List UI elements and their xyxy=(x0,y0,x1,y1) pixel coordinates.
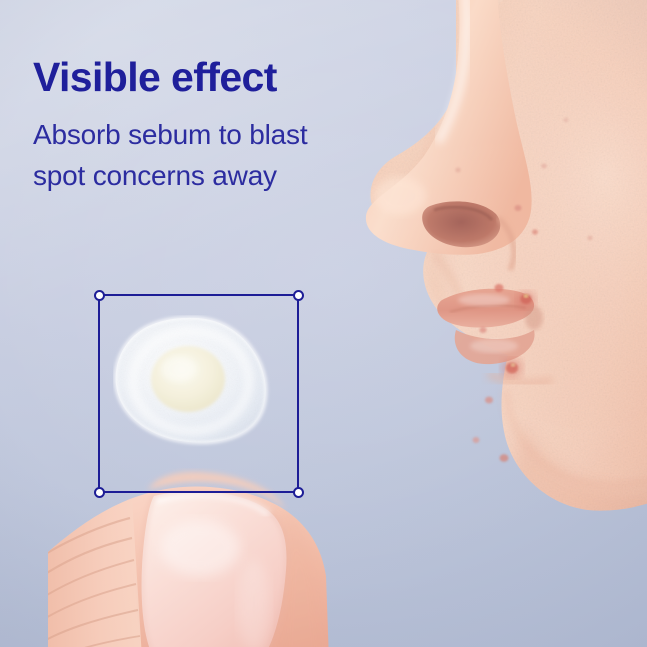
subtitle-line-1: Absorb sebum to blast xyxy=(33,119,307,150)
selection-handle-bottom-left[interactable] xyxy=(94,487,105,498)
subtitle-line-2: spot concerns away xyxy=(33,160,277,191)
selection-handle-top-left[interactable] xyxy=(94,290,105,301)
page-title: Visible effect xyxy=(33,57,433,98)
promo-banner: Visible effect Absorb sebum to blast spo… xyxy=(0,0,647,647)
selection-handle-bottom-right[interactable] xyxy=(293,487,304,498)
selection-handle-top-right[interactable] xyxy=(293,290,304,301)
selection-frame[interactable] xyxy=(98,294,299,493)
page-subtitle: Absorb sebum to blast spot concerns away xyxy=(33,114,403,197)
headline-block: Visible effect Absorb sebum to blast spo… xyxy=(33,57,433,197)
